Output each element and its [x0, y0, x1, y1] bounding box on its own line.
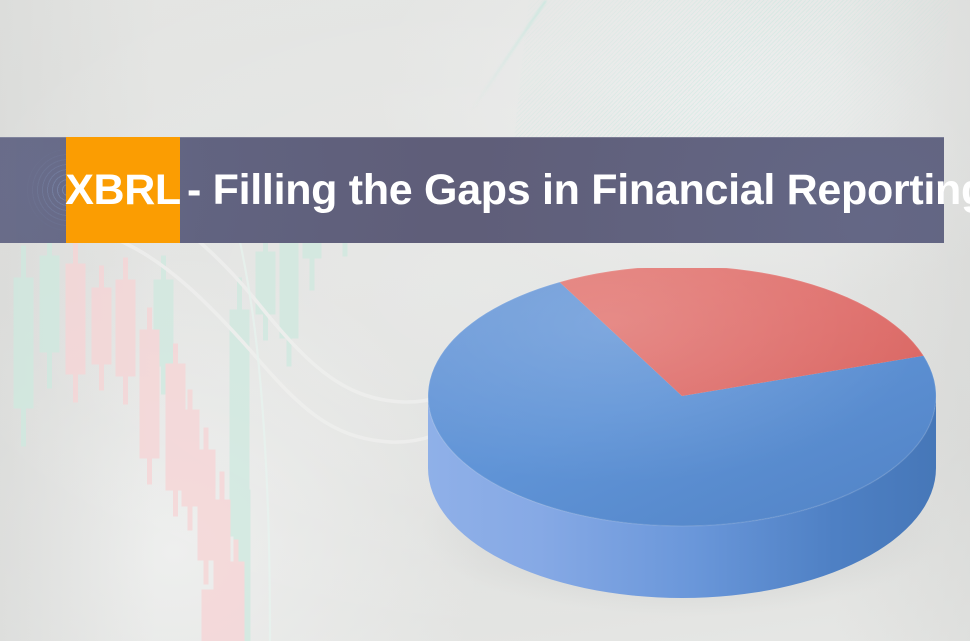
pie-chart-svg — [420, 268, 940, 618]
xbrl-tag-label: XBRL — [65, 169, 180, 212]
page-title: - Filling the Gaps in Financial Reportin… — [187, 169, 970, 212]
slide-canvas: XBRL - Filling the Gaps in Financial Rep… — [0, 0, 970, 641]
pie-top-gloss — [428, 268, 936, 526]
title-banner: XBRL - Filling the Gaps in Financial Rep… — [0, 137, 944, 243]
pie-chart-3d — [420, 268, 940, 618]
xbrl-tag-badge: XBRL — [66, 137, 180, 243]
